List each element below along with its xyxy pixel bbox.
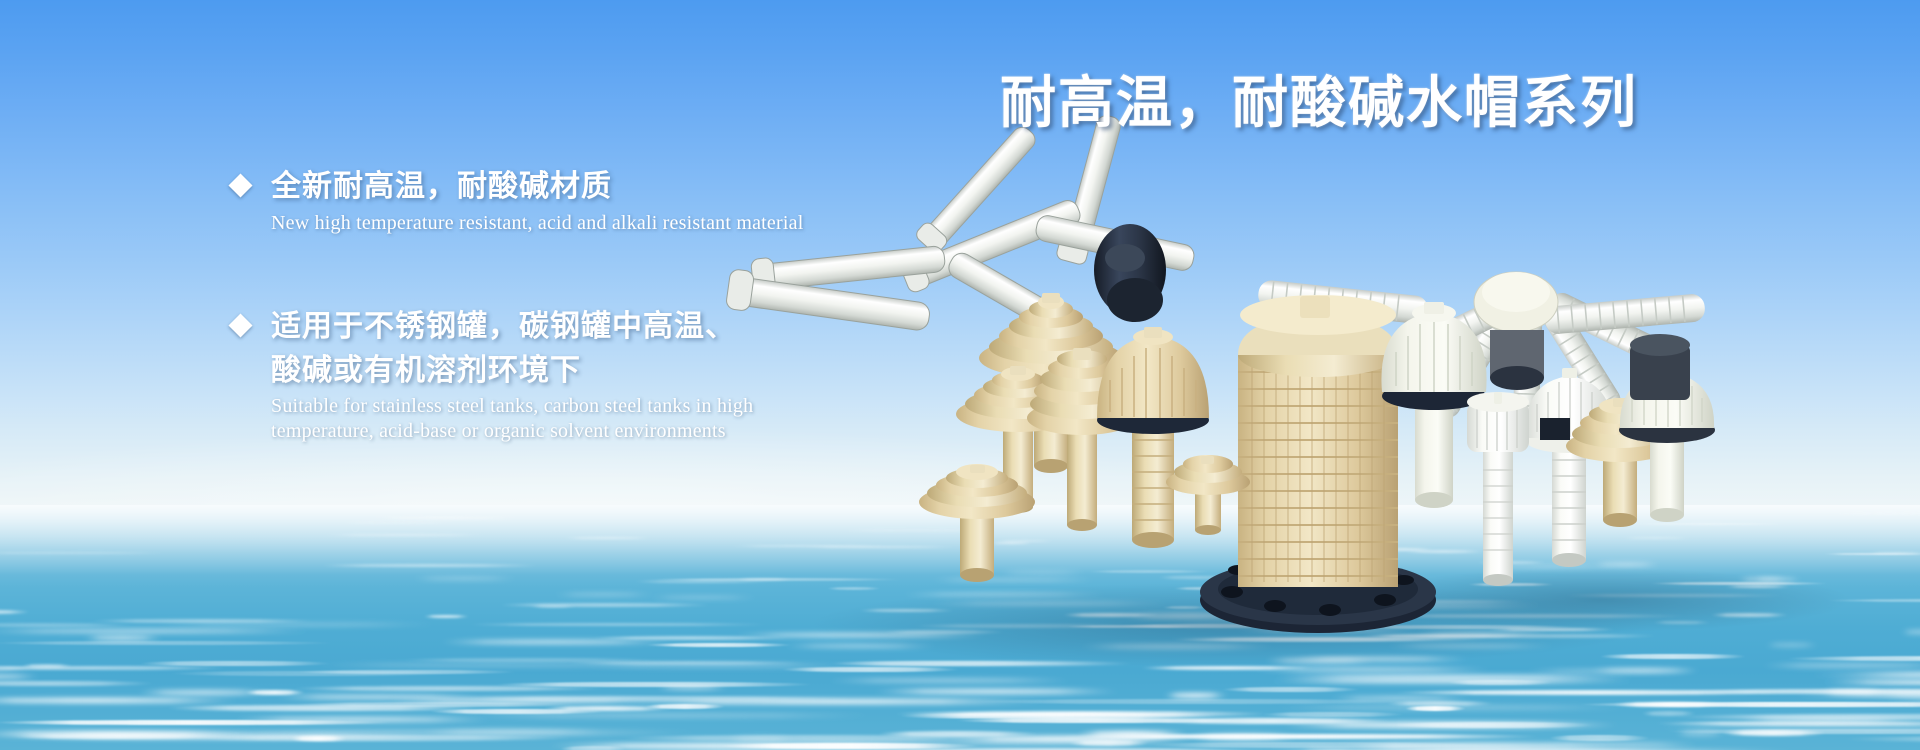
promo-banner: 耐高温，耐酸碱水帽系列 全新耐高温，耐酸碱材质 New high tempera… [0, 0, 1920, 750]
feature-1-cn-line-1: 全新耐高温，耐酸碱材质 [271, 165, 612, 209]
page-title: 耐高温，耐酸碱水帽系列 [1000, 58, 1638, 139]
product-nozzle-white-ribbed [1525, 368, 1613, 567]
product-nozzle-white-slim [1467, 392, 1529, 586]
product-nozzle-beige-front [1166, 455, 1250, 535]
diamond-bullet-icon [228, 313, 252, 337]
feature-2-en-line-1: Suitable for stainless steel tanks, carb… [271, 394, 753, 419]
feature-2-cn-line-1: 适用于不锈钢罐，碳钢罐中高温、 [271, 305, 736, 349]
diamond-bullet-icon [228, 173, 252, 197]
feature-bullet-1: 全新耐高温，耐酸碱材质 New high temperature resista… [232, 165, 803, 236]
feature-bullet-2: 适用于不锈钢罐，碳钢罐中高温、 酸碱或有机溶剂环境下 Suitable for … [232, 305, 753, 444]
feature-1-en-line-1: New high temperature resistant, acid and… [271, 211, 803, 236]
feature-2-cn-line-2: 酸碱或有机溶剂环境下 [271, 349, 736, 393]
feature-2-en-line-2: temperature, acid-base or organic solven… [271, 419, 753, 444]
product-filter-beige-dome [1097, 327, 1209, 548]
